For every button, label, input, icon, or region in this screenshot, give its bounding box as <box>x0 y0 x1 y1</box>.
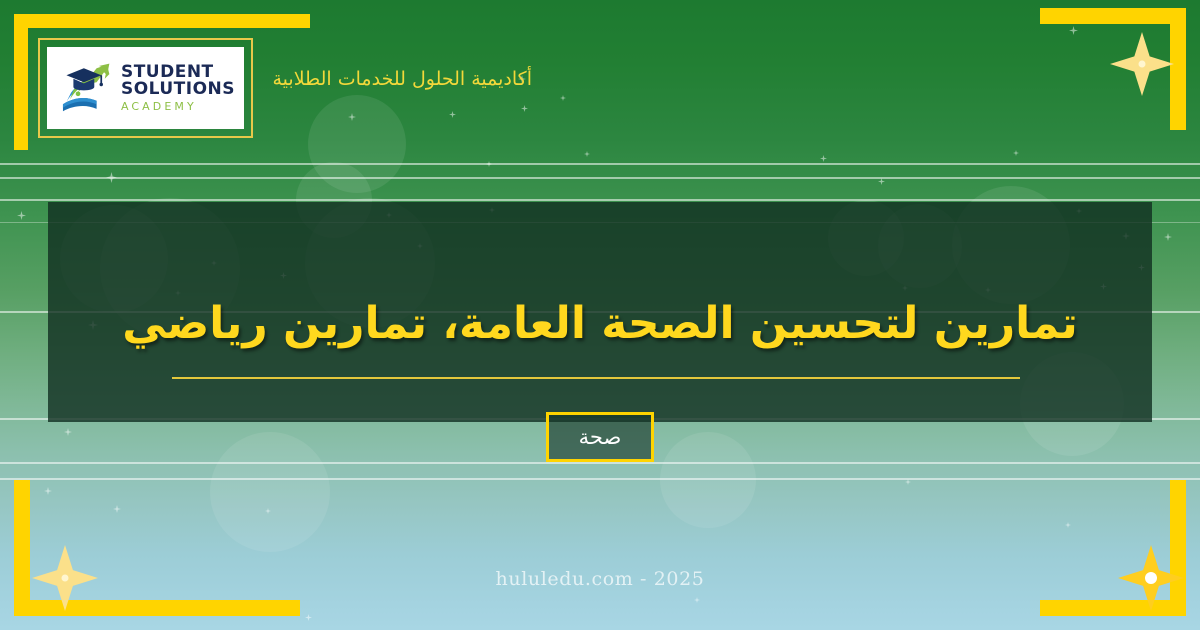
brand-logo-line3: ACADEMY <box>121 101 235 112</box>
sparkle-icon <box>305 614 312 621</box>
sparkle-icon <box>348 113 356 121</box>
sparkle-icon <box>106 172 117 183</box>
brand-logo-wordmark: STUDENT SOLUTIONS ACADEMY <box>121 64 235 112</box>
brand-logo[interactable]: STUDENT SOLUTIONS ACADEMY <box>38 38 253 138</box>
decor-hline <box>0 199 1200 201</box>
category-badge[interactable]: صحة <box>546 412 654 462</box>
sparkle-icon <box>44 487 52 495</box>
sparkle-icon <box>1069 26 1078 35</box>
sparkle-icon <box>820 155 827 162</box>
sparkle-icon <box>449 111 456 118</box>
promo-banner: تمارين لتحسين الصحة العامة، تمارين رياضي… <box>0 0 1200 630</box>
sparkle-icon <box>1116 603 1123 610</box>
title-panel <box>48 202 1152 422</box>
decor-circle <box>308 95 406 193</box>
sparkle-icon <box>905 479 911 485</box>
sparkle-icon <box>486 161 492 167</box>
category-badge-label: صحة <box>579 425 622 449</box>
brand-arabic-name: أكاديمية الحلول للخدمات الطلابية <box>262 68 532 90</box>
sparkle-icon <box>878 178 885 185</box>
brand-logo-card: STUDENT SOLUTIONS ACADEMY <box>47 47 244 129</box>
sparkle-icon <box>694 597 700 603</box>
graduation-cap-book-growth-arrow-logo-icon <box>56 59 114 117</box>
corner-bracket-bottom-right <box>1040 480 1200 630</box>
sparkle-icon <box>560 95 566 101</box>
corner-bracket-bottom-left <box>0 480 300 630</box>
sparkle-icon <box>265 508 271 514</box>
decor-hline <box>0 478 1200 480</box>
sparkle-icon <box>17 211 26 220</box>
sparkle-icon <box>1170 507 1177 514</box>
sparkle-icon <box>584 151 590 157</box>
four-point-star-icon-top-right <box>1110 32 1174 96</box>
sparkle-icon <box>64 428 72 436</box>
sparkle-icon <box>28 604 35 611</box>
decor-hline <box>0 163 1200 165</box>
title-underline <box>172 377 1020 379</box>
sparkle-icon <box>1164 233 1172 241</box>
sparkle-icon <box>521 105 528 112</box>
footer-watermark: hululedu.com - 2025 <box>0 568 1200 590</box>
decor-hline <box>0 462 1200 464</box>
decor-hline <box>0 177 1200 179</box>
brand-logo-line2: SOLUTIONS <box>121 81 235 98</box>
sparkle-icon <box>113 505 121 513</box>
decor-circle <box>660 432 756 528</box>
corner-bracket-top-right <box>1040 0 1200 130</box>
decor-circle <box>210 432 330 552</box>
sparkle-icon <box>1013 150 1019 156</box>
sparkle-icon <box>1065 522 1071 528</box>
